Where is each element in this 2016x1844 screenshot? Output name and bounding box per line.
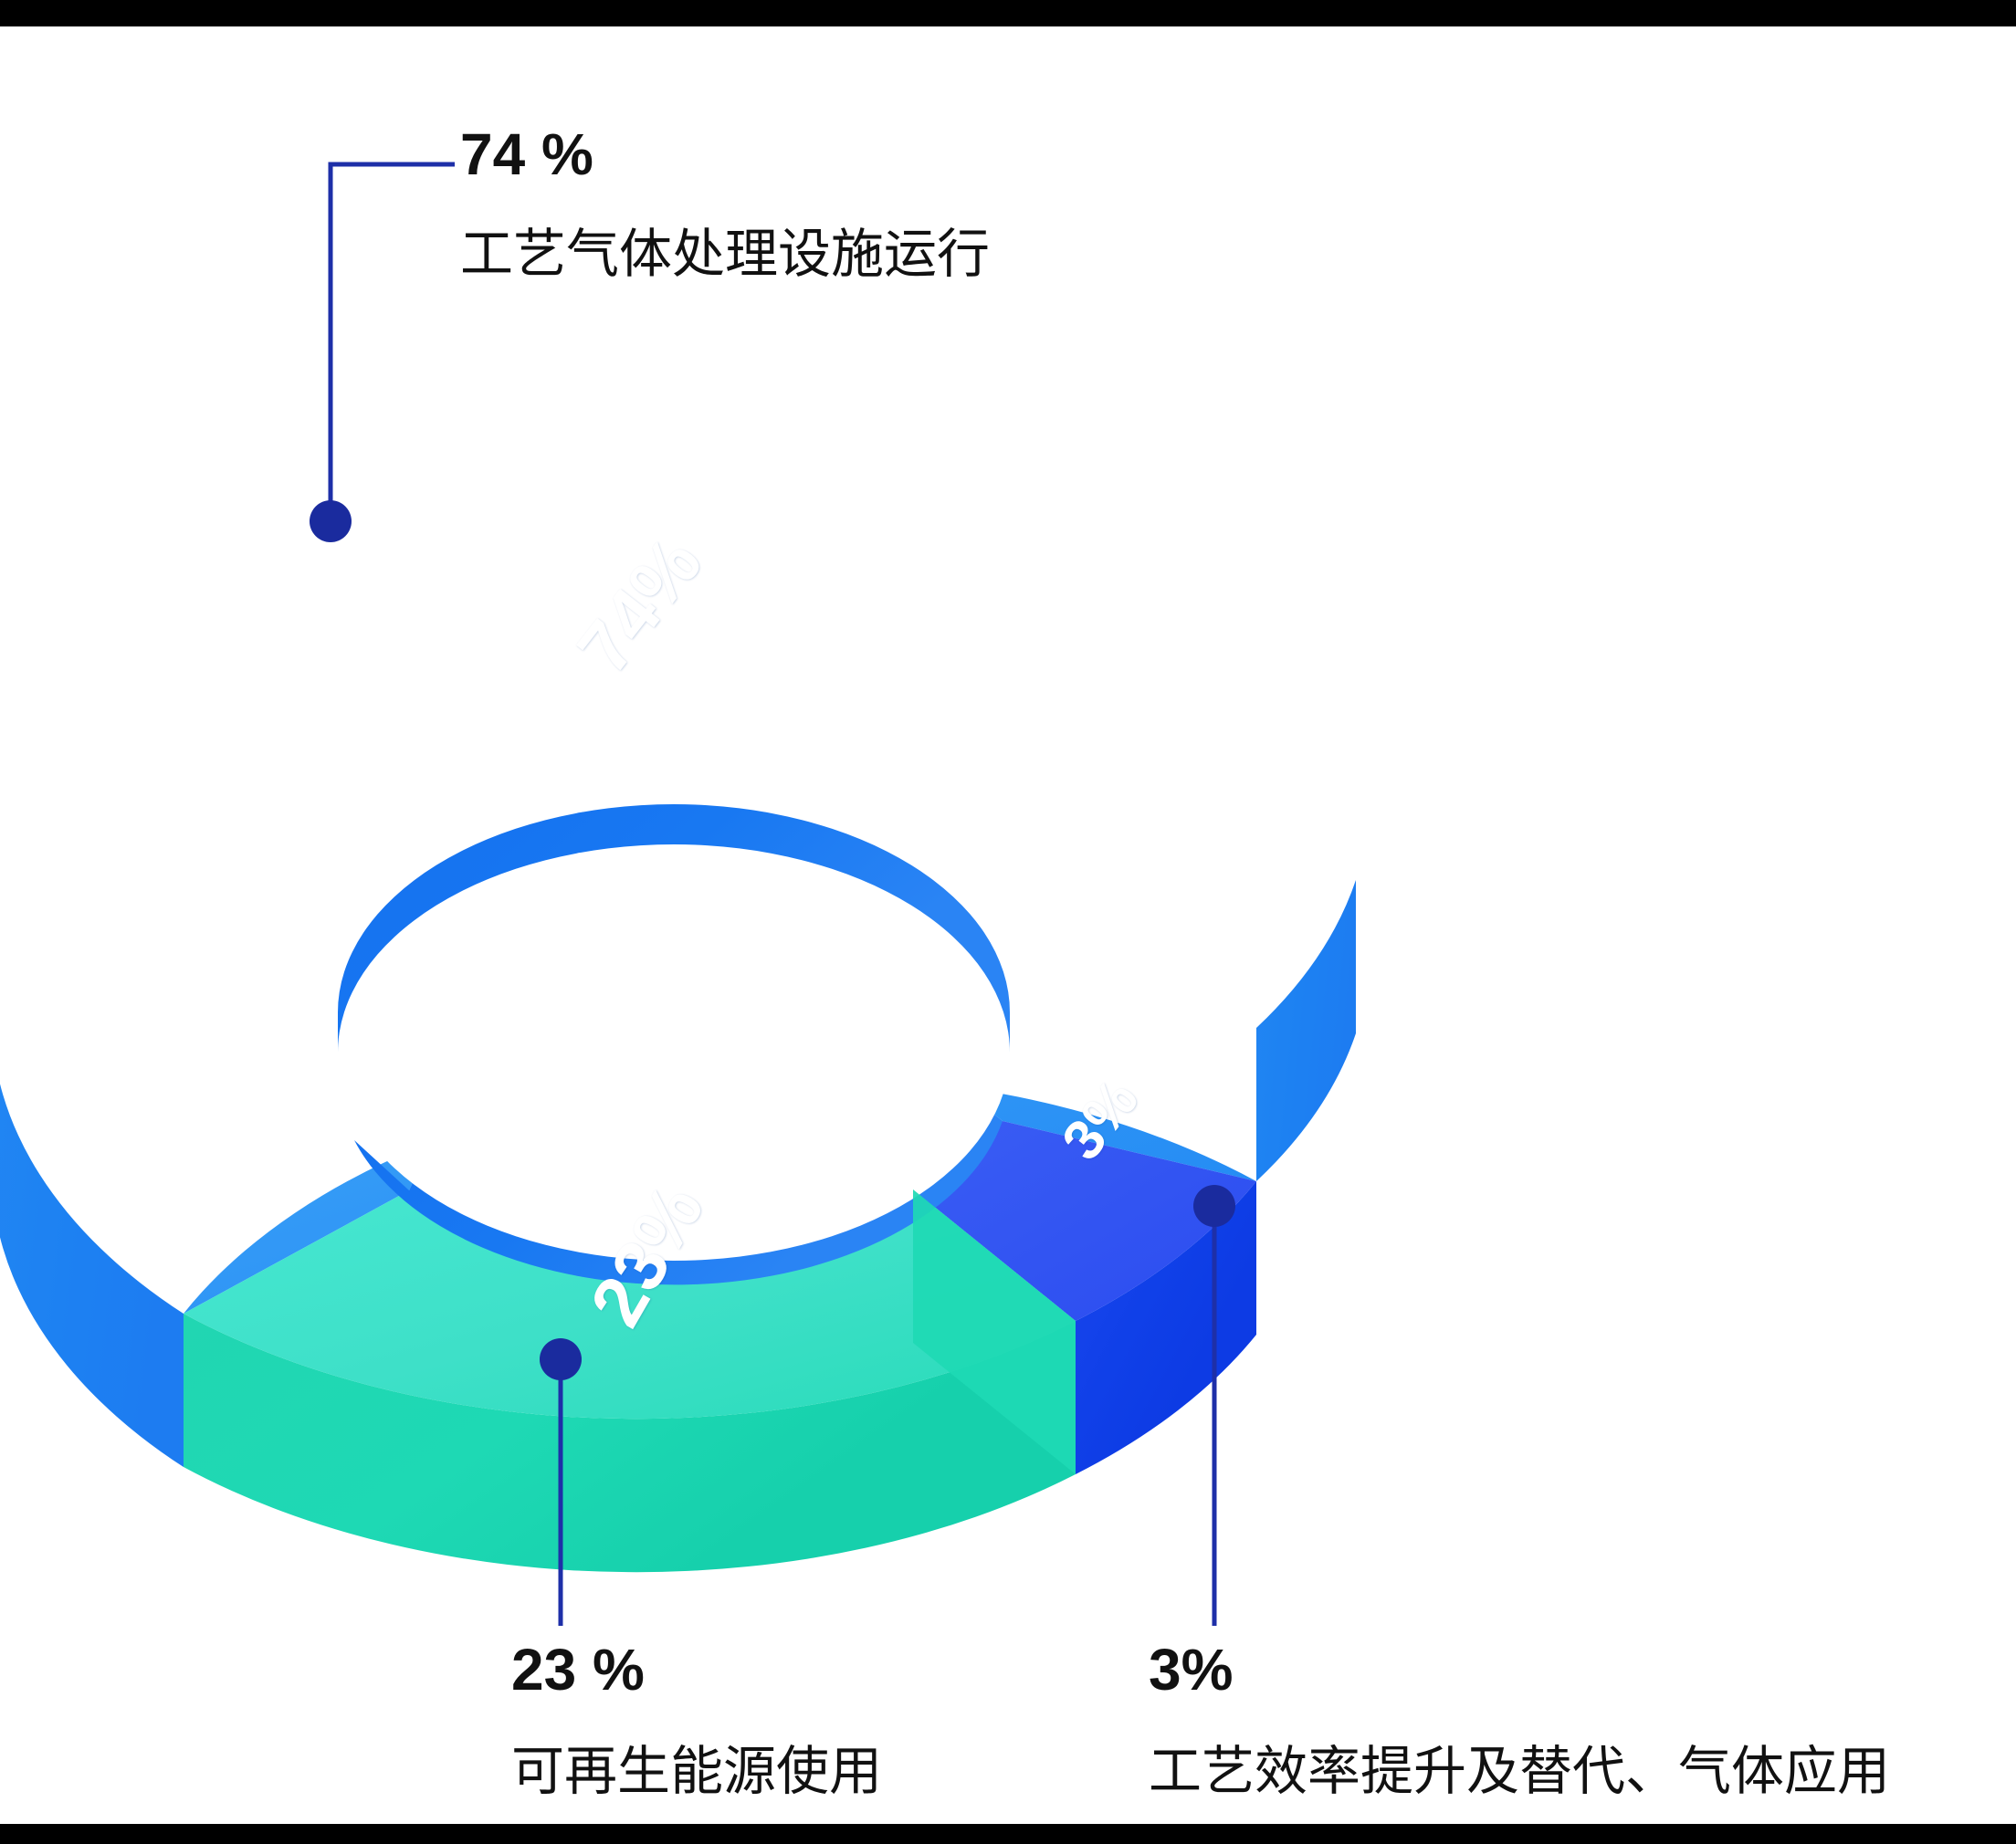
chart-page: 74% 23% 3% 74 % 工艺气体处理设施运行 23 % 可再生能源使用 … [0,0,2016,1844]
slice-74-outer-wall-right [1256,880,1356,1181]
letterbox-bottom-bar [0,1824,2016,1844]
callout-renewable: 23 % 可再生能源使用 [511,1640,882,1806]
callout-description-efficiency: 工艺效率提升及替代、气体应用 [1149,1739,1890,1806]
callout-description-process-gas: 工艺气体处理设施运行 [460,222,990,288]
leader-line-process-gas [331,164,455,516]
slice-74-outer-wall [0,1012,184,1467]
callout-value-efficiency: 3% [1149,1640,1890,1699]
callout-value-process-gas: 74 % [460,125,990,183]
callout-description-renewable: 可再生能源使用 [511,1739,882,1806]
donut-chart-graphic [0,501,1359,1542]
donut-chart-stage: 74% 23% 3% 74 % 工艺气体处理设施运行 23 % 可再生能源使用 … [0,26,2016,1824]
letterbox-top-bar [0,0,2016,26]
callout-efficiency: 3% 工艺效率提升及替代、气体应用 [1149,1640,1890,1806]
callout-value-renewable: 23 % [511,1640,882,1699]
callout-process-gas: 74 % 工艺气体处理设施运行 [460,125,990,288]
